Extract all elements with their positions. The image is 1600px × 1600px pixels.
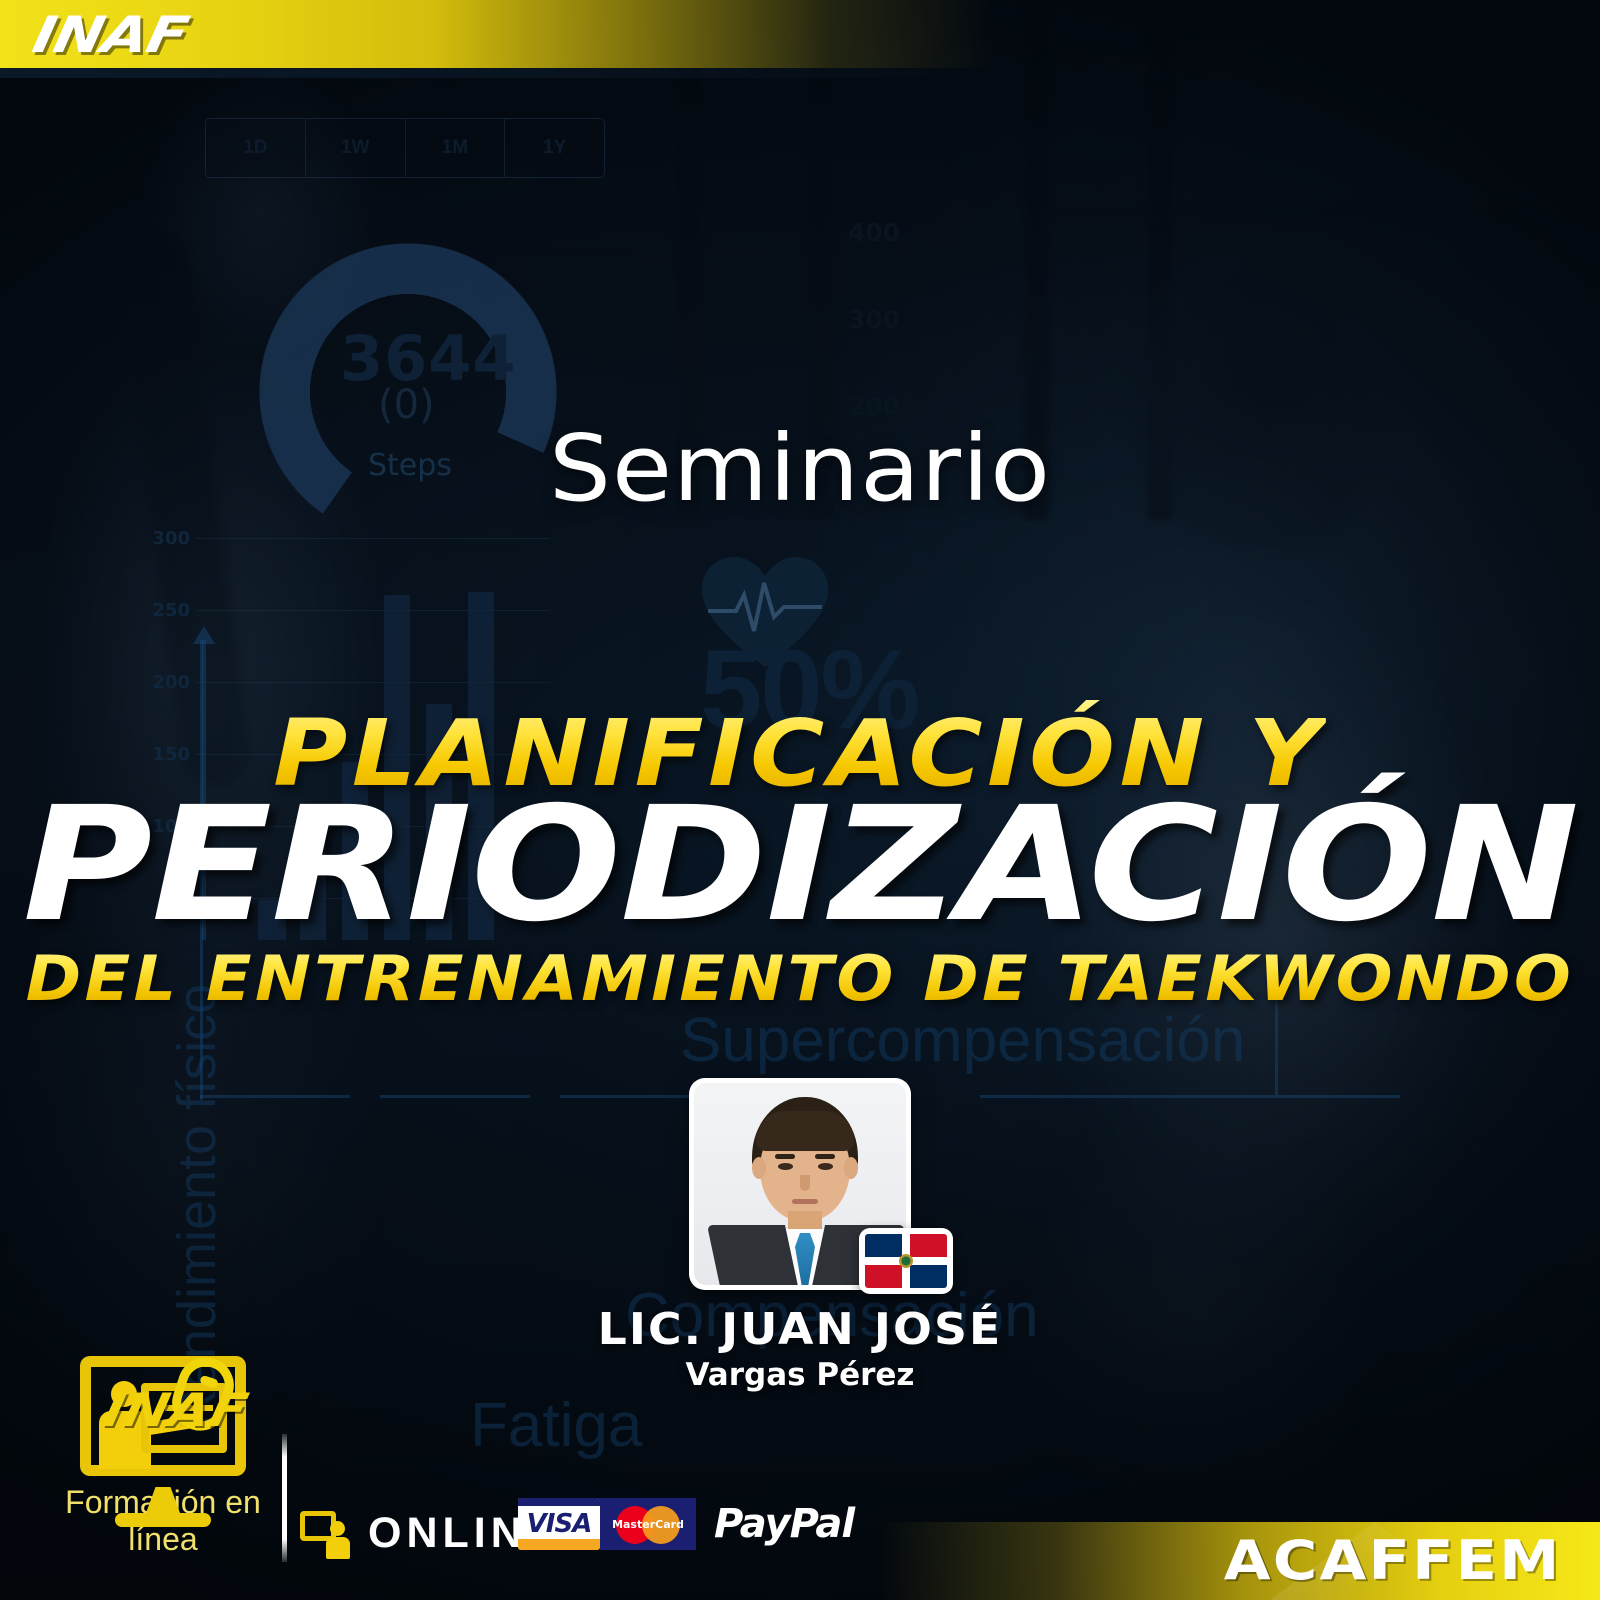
monitor-icon: INAF (80, 1356, 246, 1476)
footer-bar: ACAFFEM (0, 1522, 1600, 1600)
speaker-name: LIC. JUAN JOSÉ (0, 1304, 1600, 1355)
title-line-3: DEL ENTRENAMIENTO DE TAEKWONDO (26, 942, 1574, 1015)
speaker-block: LIC. JUAN JOSÉ Vargas Pérez (0, 1078, 1600, 1393)
main-title-block: PLANIFICACIÓN Y PERIODIZACIÓN DEL ENTREN… (0, 700, 1600, 1015)
poster-root: 1D 1W 1M 1Y 3644 (0) Steps 300 250 200 1… (0, 0, 1600, 1600)
inaf-logo: INAF (28, 6, 193, 64)
dominican-republic-flag-icon (859, 1228, 953, 1294)
eyebrow-seminario: Seminario (0, 415, 1600, 522)
inaf-online-wordmark: INAF (99, 1383, 253, 1437)
speaker-photo (689, 1078, 911, 1290)
acaffem-logo: ACAFFEM (1224, 1529, 1562, 1592)
header-bar: INAF (0, 0, 1600, 68)
title-line-2: PERIODIZACIÓN (22, 793, 1577, 938)
